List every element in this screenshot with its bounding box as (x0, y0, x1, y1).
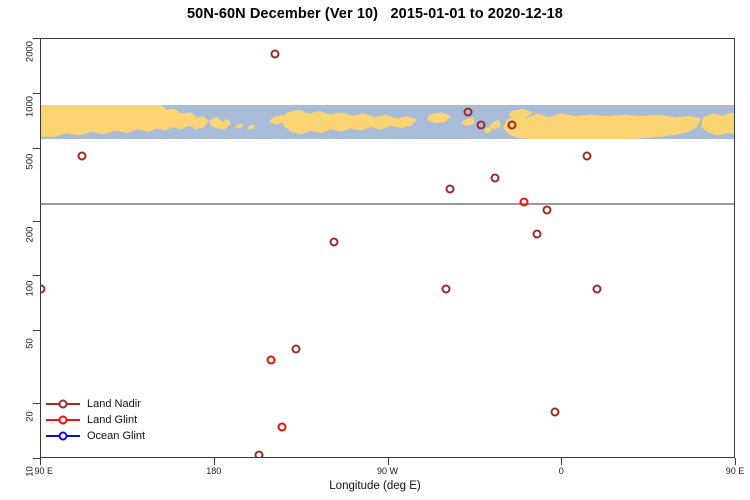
data-point (330, 237, 339, 246)
y-tick-label: 200 (25, 219, 36, 249)
x-tick-mark (40, 458, 41, 465)
legend-item[interactable]: Ocean Glint (46, 428, 145, 444)
data-point (533, 230, 542, 239)
legend-symbol (46, 430, 80, 442)
data-point (266, 355, 275, 364)
chart-title: 50N-60N December (Ver 10) 2015-01-01 to … (0, 6, 750, 22)
y-tick-label: 100 (25, 274, 36, 304)
legend-symbol (46, 414, 80, 426)
y-tick-label: 2000 (25, 37, 36, 67)
x-tick-label: 90 W (377, 466, 398, 476)
legend-label: Land Nadir (87, 398, 141, 410)
map-strip-svg (41, 105, 735, 139)
data-point (583, 152, 592, 161)
x-tick-label: 90 E (726, 466, 745, 476)
x-tick-mark (735, 458, 736, 465)
data-point (278, 422, 287, 431)
data-point (550, 408, 559, 417)
world-map-inset (41, 105, 735, 139)
legend-marker-icon (59, 400, 68, 409)
data-point (463, 107, 472, 116)
y-tick-label: 1000 (25, 91, 36, 121)
legend-label: Ocean Glint (87, 430, 145, 442)
x-tick-mark (214, 458, 215, 465)
legend-item[interactable]: Land Nadir (46, 396, 145, 412)
data-point (77, 152, 86, 161)
x-tick-label: 180 (206, 466, 221, 476)
legend-marker-icon (59, 432, 68, 441)
x-tick-label: 90 E (34, 466, 53, 476)
y-tick-label: 50 (25, 329, 36, 359)
x-axis-title: Longitude (deg E) (0, 480, 750, 492)
legend-symbol (46, 398, 80, 410)
x-tick-mark (388, 458, 389, 465)
data-point (270, 50, 279, 59)
data-point (40, 285, 46, 294)
legend-item[interactable]: Land Glint (46, 412, 145, 428)
x-tick-mark (561, 458, 562, 465)
plot-area (40, 38, 735, 458)
x-tick-label: 0 (559, 466, 564, 476)
data-point (255, 451, 264, 458)
data-point (291, 345, 300, 354)
data-point (519, 198, 528, 207)
reference-line (41, 203, 735, 205)
legend-marker-icon (59, 416, 68, 425)
data-point (508, 120, 517, 129)
data-point (542, 206, 551, 215)
data-point (593, 285, 602, 294)
data-point (490, 174, 499, 183)
chart-legend: Land NadirLand GlintOcean Glint (46, 396, 145, 444)
data-point (477, 120, 486, 129)
y-tick-label: 500 (25, 146, 36, 176)
y-tick-label: 20 (25, 402, 36, 432)
chart-figure: 50N-60N December (Ver 10) 2015-01-01 to … (0, 0, 750, 500)
data-point (446, 185, 455, 194)
legend-label: Land Glint (87, 414, 137, 426)
data-point (442, 285, 451, 294)
